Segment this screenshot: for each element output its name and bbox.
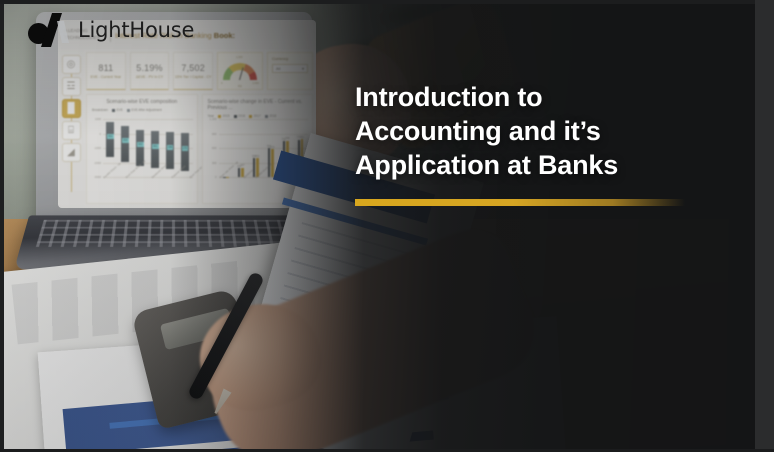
kpi-label: 15% Tier I Capital - CY xyxy=(175,75,212,79)
chart-eve-composition: Scenario-wise EVE composition Breakdown … xyxy=(86,94,198,204)
sidebar-icon-institution[interactable]: ☲ xyxy=(62,77,81,96)
kpi-label: EVE - Current Year xyxy=(91,75,122,79)
y-tick-label: 600 xyxy=(212,146,217,150)
y-tick-label: 300 xyxy=(212,161,217,165)
kpi-value: 5.19% xyxy=(136,63,163,73)
sidebar-icon-overview[interactable]: ◎ xyxy=(62,55,81,74)
chart-right-legend: Year 2015 2016 2017 2018 xyxy=(208,114,308,118)
slide-title-line-2: Accounting and it’s xyxy=(355,114,685,148)
y-tick-label: 1,200 xyxy=(210,117,217,121)
slide-title-line-1: Introduction to xyxy=(355,80,685,114)
sidebar-icon-reports[interactable]: ⌸ xyxy=(62,121,81,140)
y-tick-label: 0 xyxy=(215,175,217,179)
bar-segment xyxy=(166,132,174,170)
bar-data-label: 388 xyxy=(167,145,174,150)
slide-title-block: Introduction to Accounting and it’s Appl… xyxy=(355,80,685,206)
sidebar-icon-analytics[interactable]: █ xyxy=(62,99,81,118)
legend-entry: 2018 xyxy=(265,114,277,118)
bar-data-label: 574 xyxy=(270,146,276,149)
chart-right-title: Scenario-wise change in EVE - Current vs… xyxy=(208,99,308,111)
bar-segment xyxy=(121,126,129,162)
legend-entry: 2016 xyxy=(234,114,246,118)
frame-edge-right xyxy=(755,0,774,452)
y-tick-label: -1000 xyxy=(94,146,101,150)
gauge-needle xyxy=(239,67,244,80)
y-tick-label: 0 xyxy=(99,132,101,136)
bar-segment xyxy=(151,131,159,168)
background-photo: A LEADING TECHNOLOGIES Interest Rate Ris… xyxy=(4,4,755,452)
gauge-card: 0 1,200 2,400 811 xyxy=(217,52,263,90)
dashboard-main: 811 EVE - Current Year 5.19% ΔEVE - PV i… xyxy=(86,52,313,206)
gauge-value-label: 811 xyxy=(218,85,262,88)
chevron-down-icon: ▾ xyxy=(302,66,304,71)
overview-icon: ◎ xyxy=(67,59,76,70)
kpi-label: ΔEVE - PV in CY xyxy=(136,75,163,79)
currency-filter-label: Currency xyxy=(272,56,308,61)
dashboard-sidebar[interactable]: ◎ ☲ █ ⌸ ◢ xyxy=(58,50,84,208)
kpi-card: 5.19% ΔEVE - PV in CY xyxy=(130,52,170,90)
brand-name: LightHouse xyxy=(78,18,194,42)
dashboard-title-bold: Book: xyxy=(214,31,235,40)
currency-select[interactable]: All ▾ xyxy=(272,64,308,73)
brand-lockup: LightHouse xyxy=(28,13,194,47)
charts-icon: ◢ xyxy=(67,147,75,158)
kpi-card: 811 EVE - Current Year xyxy=(86,52,126,90)
frame-edge-left xyxy=(0,0,4,452)
chart-left-title: Scenario-wise EVE composition xyxy=(92,99,192,105)
bar-data-label: 275 xyxy=(182,146,189,151)
kpi-row: 811 EVE - Current Year 5.19% ΔEVE - PV i… xyxy=(86,52,313,90)
grouped-bar: 388391 xyxy=(251,119,261,177)
y-tick-label: -2000 xyxy=(94,161,101,165)
bar-data-label: 441 xyxy=(152,144,159,149)
kpi-value: 7,502 xyxy=(181,63,205,73)
brand-logo xyxy=(28,13,70,47)
frame-edge-top xyxy=(0,0,774,4)
bar-segment xyxy=(106,122,114,157)
presentation-slide: A LEADING TECHNOLOGIES Interest Rate Ris… xyxy=(0,0,774,452)
legend-entry: EVE After Adjustment xyxy=(127,108,162,112)
reports-icon: ⌸ xyxy=(68,125,74,136)
currency-filter[interactable]: Currency All ▾ xyxy=(267,52,313,90)
slide-title-line-3: Application at Banks xyxy=(355,148,685,182)
bar-data-label: 502 xyxy=(137,142,144,147)
eve-gauge xyxy=(223,63,257,80)
bar-data-label: 781 xyxy=(299,136,305,139)
y-tick-label: 1000 xyxy=(95,117,101,121)
bar-data-label: 391 xyxy=(255,155,261,158)
chart-left-xlabels: Parallel Shock - UpShort Rate Shock - Up… xyxy=(103,177,193,201)
gauge-mid-label: 1,200 xyxy=(236,56,243,59)
legend-entry: EVE xyxy=(112,108,123,112)
chart-left-legend: Breakdown EVE EVE After Adjustment xyxy=(92,108,192,112)
legend-label: Breakdown xyxy=(92,108,108,112)
title-accent-rule xyxy=(355,199,685,206)
bar-data-label: 748 xyxy=(284,137,290,140)
legend-entry: 2017 xyxy=(249,114,261,118)
institution-icon: ☲ xyxy=(67,81,76,92)
logo-a-mark-icon xyxy=(38,13,70,47)
y-tick-label: -3000 xyxy=(94,175,101,179)
kpi-value: 811 xyxy=(98,63,113,73)
chart-row: Scenario-wise EVE composition Breakdown … xyxy=(86,94,313,204)
currency-select-value: All xyxy=(276,66,280,71)
legend-entry: 2015 xyxy=(218,114,230,118)
bar-data-label: 654 xyxy=(122,138,129,143)
bar-data-label: 811 xyxy=(107,134,114,139)
kpi-card: 7,502 15% Tier I Capital - CY xyxy=(173,52,213,90)
analytics-icon: █ xyxy=(67,103,74,114)
y-tick-label: 900 xyxy=(212,132,217,136)
sidebar-icon-charts[interactable]: ◢ xyxy=(62,143,81,162)
